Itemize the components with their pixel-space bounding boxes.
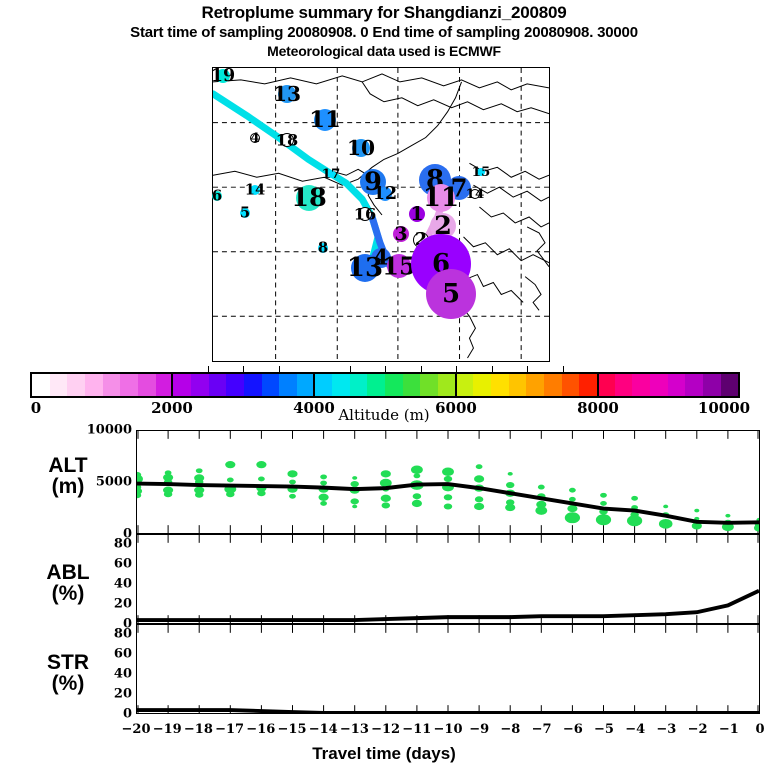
- map-marker-circle: [470, 189, 480, 199]
- map-marker-circle: [212, 191, 222, 201]
- alt-scatter-blob: [663, 505, 668, 509]
- abl-y-tick-label: 80: [114, 537, 132, 552]
- x-tick-label: −12: [371, 722, 400, 737]
- x-tick-label: −20: [122, 722, 151, 737]
- colorbar-swatch: [173, 374, 191, 396]
- alt-scatter-blob: [538, 485, 545, 490]
- alt-scatter-blob: [287, 470, 297, 477]
- colorbar-tick: [421, 366, 422, 372]
- alt-scatter-blob: [320, 474, 327, 479]
- alt-scatter-blob: [319, 494, 329, 501]
- alt-scatter-blob: [382, 502, 390, 508]
- alt-scatter-blob: [476, 464, 483, 469]
- map-marker-circle: [352, 139, 370, 157]
- colorbar-swatch: [226, 374, 244, 396]
- str-plot-svg: [137, 625, 759, 713]
- colorbar-swatch: [473, 374, 491, 396]
- colorbar-swatch: [315, 374, 333, 396]
- colorbar-swatch: [332, 374, 350, 396]
- x-tick-label: −2: [688, 722, 708, 737]
- map-marker-circle: [427, 184, 455, 212]
- alt-scatter-blob: [600, 493, 607, 498]
- map-marker-circle: [296, 185, 322, 211]
- map-marker-circle: [358, 207, 372, 221]
- alt-scatter-blob: [412, 500, 422, 507]
- str-y-tick-label: 80: [114, 627, 132, 642]
- alt-scatter-blob: [627, 515, 642, 526]
- colorbar-tick: [279, 366, 280, 372]
- colorbar-swatch: [403, 374, 421, 396]
- alt-scatter-blob: [506, 482, 514, 488]
- abl-y-tick-label: 40: [114, 577, 132, 592]
- alt-scatter-blob: [631, 496, 638, 501]
- colorbar-divider: [455, 372, 457, 398]
- colorbar-swatch: [262, 374, 280, 396]
- colorbar-swatch: [50, 374, 68, 396]
- x-tick-label: −13: [340, 722, 369, 737]
- alt-scatter-blob: [226, 491, 234, 497]
- str-y-tick-label: 60: [114, 647, 132, 662]
- alt-scatter-blob: [413, 493, 421, 499]
- x-tick-label: −10: [434, 722, 463, 737]
- alt-scatter-points: [137, 461, 759, 532]
- x-tick-label: −18: [184, 722, 213, 737]
- colorbar-gradient: [30, 372, 740, 398]
- alt-scatter-blob: [508, 472, 513, 476]
- alt-scatter-blob: [754, 524, 759, 531]
- colorbar-swatch: [191, 374, 209, 396]
- x-tick-label: 0: [755, 722, 764, 737]
- map-marker-circle: [378, 187, 392, 201]
- abl-row-label: ABL (%): [6, 562, 130, 604]
- alt-scatter-blob: [725, 514, 730, 518]
- colorbar-swatch: [297, 374, 315, 396]
- abl-plot[interactable]: [136, 534, 760, 624]
- colorbar-swatch: [67, 374, 85, 396]
- met-data-line: Meteorological data used is ECMWF: [0, 42, 768, 60]
- colorbar-swatch: [650, 374, 668, 396]
- colorbar-swatch: [32, 374, 50, 396]
- alt-scatter-blob: [320, 501, 327, 506]
- colorbar-tick: [350, 366, 351, 372]
- x-axis-title: Travel time (days): [0, 744, 768, 764]
- map-marker-circle: [278, 85, 296, 103]
- alt-scatter-blob: [352, 505, 357, 509]
- str-plot[interactable]: [136, 624, 760, 714]
- page-title: Retroplume summary for Shangdianzi_20080…: [0, 0, 768, 23]
- colorbar-tick: [208, 366, 209, 372]
- map-marker-circle: [387, 254, 411, 278]
- alt-scatter-blob: [196, 468, 203, 473]
- x-tick-label: −5: [594, 722, 614, 737]
- altitude-colorbar: 0200040006000800010000: [30, 372, 740, 398]
- alt-scatter-blob: [411, 466, 423, 475]
- alt-scatter-blob: [565, 512, 580, 523]
- str-y-tick-label: 20: [114, 687, 132, 702]
- str-y-tick-label: 40: [114, 667, 132, 682]
- retroplume-map[interactable]: 1913111841017614518912871514111612324131…: [212, 67, 550, 362]
- colorbar-swatch: [615, 374, 633, 396]
- alt-scatter-blob: [414, 473, 421, 478]
- alt-plot-svg: [137, 431, 759, 533]
- alt-scatter-blob: [256, 461, 266, 468]
- alt-scatter-blob: [694, 509, 699, 513]
- alt-scatter-blob: [289, 494, 296, 499]
- alt-scatter-blob: [444, 503, 452, 509]
- title-block: Retroplume summary for Shangdianzi_20080…: [0, 0, 768, 60]
- alt-scatter-blob: [227, 478, 234, 483]
- alt-scatter-blob: [257, 490, 265, 496]
- abl-y-tick-label: 20: [114, 597, 132, 612]
- colorbar-swatch: [138, 374, 156, 396]
- colorbar-swatch: [438, 374, 456, 396]
- colorbar-swatch: [120, 374, 138, 396]
- colorbar-divider: [171, 372, 173, 398]
- str-row-label: STR (%): [6, 652, 130, 694]
- map-marker-circle: [426, 269, 476, 319]
- colorbar-tick: [492, 366, 493, 372]
- x-tick-label: −16: [246, 722, 275, 737]
- map-marker-circle: [351, 254, 379, 282]
- map-graticule-and-coastlines: [213, 68, 549, 361]
- colorbar-swatch: [350, 374, 368, 396]
- map-marker-circle: [280, 133, 294, 147]
- colorbar-swatch: [668, 374, 686, 396]
- x-tick-label: −19: [153, 722, 182, 737]
- colorbar-swatch: [579, 374, 597, 396]
- map-marker-circle: [240, 208, 250, 218]
- colorbar-swatch: [509, 374, 527, 396]
- colorbar-tick: [456, 366, 457, 372]
- alt-scatter-blob: [475, 496, 483, 502]
- alt-scatter-blob: [569, 488, 576, 493]
- colorbar-swatch: [597, 374, 615, 396]
- colorbar-swatch: [632, 374, 650, 396]
- abl-label-line2: (%): [6, 583, 130, 604]
- alt-y-tick-label: 5000: [96, 475, 132, 490]
- colorbar-swatch: [209, 374, 227, 396]
- alt-scatter-blob: [352, 476, 357, 480]
- colorbar-tick: [385, 366, 386, 372]
- colorbar-swatch: [721, 374, 739, 396]
- colorbar-tick: [527, 366, 528, 372]
- abl-plot-svg: [137, 535, 759, 623]
- x-tick-label: −15: [278, 722, 307, 737]
- x-tick-label: −3: [656, 722, 676, 737]
- alt-scatter-blob: [381, 470, 391, 477]
- x-tick-label: −7: [532, 722, 552, 737]
- x-tick-label: −9: [469, 722, 489, 737]
- colorbar-divider: [313, 372, 315, 398]
- colorbar-divider: [597, 372, 599, 398]
- str-label-line1: STR: [6, 652, 130, 673]
- alt-scatter-blob: [596, 514, 611, 525]
- colorbar-swatch: [703, 374, 721, 396]
- map-marker-circle: [409, 206, 425, 222]
- alt-scatter-blob: [600, 501, 607, 506]
- alt-scatter-blob: [320, 481, 327, 486]
- map-marker-circle: [216, 69, 230, 83]
- x-tick-label: −17: [215, 722, 244, 737]
- map-marker-circle: [327, 170, 335, 178]
- x-tick-label: −8: [500, 722, 520, 737]
- colorbar-swatch: [385, 374, 403, 396]
- alt-scatter-blob: [225, 461, 235, 468]
- alt-scatter-blob: [474, 503, 484, 510]
- colorbar-swatch: [103, 374, 121, 396]
- x-tick-label: −1: [719, 722, 739, 737]
- map-marker-circle: [318, 243, 328, 253]
- x-tick-label: −14: [309, 722, 338, 737]
- colorbar-swatch: [244, 374, 262, 396]
- alt-scatter-blob: [350, 498, 358, 504]
- abl-y-tick-label: 60: [114, 557, 132, 572]
- colorbar-tick: [243, 366, 244, 372]
- map-marker-circle: [250, 133, 260, 143]
- x-tick-label: −6: [563, 722, 583, 737]
- alt-scatter-blob: [444, 494, 452, 500]
- colorbar-swatch: [420, 374, 438, 396]
- colorbar-swatch: [85, 374, 103, 396]
- sampling-time-line: Start time of sampling 20080908. 0 End t…: [0, 23, 768, 42]
- str-label-line2: (%): [6, 673, 130, 694]
- alt-scatter-blob: [442, 468, 454, 477]
- abl-label-line1: ABL: [6, 562, 130, 583]
- alt-scatter-blob: [289, 480, 296, 485]
- colorbar-swatch: [544, 374, 562, 396]
- x-tick-label: −4: [625, 722, 645, 737]
- x-tick-label: −11: [402, 722, 431, 737]
- colorbar-title: Altitude (m): [0, 406, 768, 424]
- colorbar-swatch: [685, 374, 703, 396]
- colorbar-tick: [563, 366, 564, 372]
- map-marker-circle: [314, 109, 336, 131]
- colorbar-swatch: [526, 374, 544, 396]
- colorbar-swatch: [491, 374, 509, 396]
- alt-scatter-blob: [381, 495, 391, 502]
- colorbar-swatch: [456, 374, 474, 396]
- alt-scatter-blob: [474, 475, 484, 482]
- colorbar-swatch: [562, 374, 580, 396]
- alt-scatter-blob: [350, 481, 358, 487]
- map-marker-circle: [477, 168, 485, 176]
- str-y-tick-label: 0: [123, 707, 132, 722]
- colorbar-swatch: [367, 374, 385, 396]
- alt-scatter-blob: [164, 491, 172, 497]
- colorbar-swatch: [279, 374, 297, 396]
- alt-scatter-blob: [505, 504, 515, 511]
- alt-scatter-blob: [444, 476, 452, 482]
- map-marker-circle: [250, 185, 260, 195]
- alt-plot[interactable]: [136, 430, 760, 534]
- alt-scatter-blob: [659, 519, 673, 529]
- alt-scatter-blob: [535, 506, 547, 515]
- alt-scatter-blob: [195, 492, 203, 498]
- map-marker-circle: [393, 226, 409, 242]
- alt-scatter-blob: [258, 477, 265, 482]
- alt-label-line1: ALT: [6, 455, 130, 476]
- alt-y-tick-label: 10000: [87, 423, 132, 438]
